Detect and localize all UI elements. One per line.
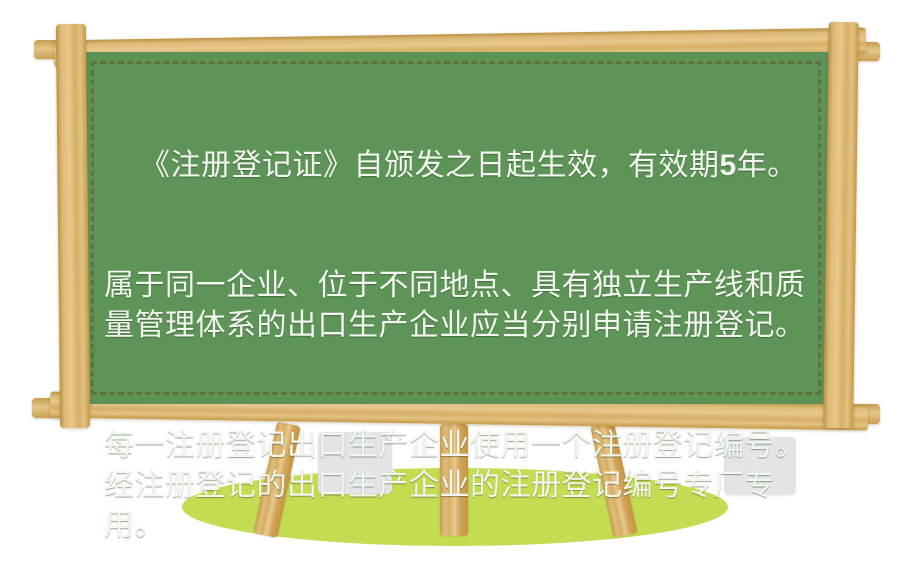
notice-paragraph-1: 《注册登记证》自颁发之日起生效，有效期5年。 <box>104 146 814 186</box>
notice-paragraph-2: 属于同一企业、位于不同地点、具有独立生产线和质量管理体系的出口生产企业应当分别申… <box>104 266 814 346</box>
blackboard-scene: 《注册登记证》自颁发之日起生效，有效期5年。 属于同一企业、位于不同地点、具有独… <box>0 0 912 562</box>
notice-paragraph-1-tail: 年。 <box>737 149 798 182</box>
notice-paragraph-1-lead: 《注册登记证》自颁发之日起生效，有效期 <box>140 149 720 182</box>
chalkboard-text-block: 《注册登记证》自颁发之日起生效，有效期5年。 属于同一企业、位于不同地点、具有独… <box>104 66 814 562</box>
frame-rail-right <box>823 22 859 428</box>
notice-paragraph-3: 每一注册登记出口生产企业使用一个注册登记编号。经注册登记的出口生产企业的注册登记… <box>104 426 814 546</box>
validity-years-value: 5 <box>720 149 737 182</box>
frame-rail-left <box>56 24 90 428</box>
blackboard-frame: 《注册登记证》自颁发之日起生效，有效期5年。 属于同一企业、位于不同地点、具有独… <box>36 16 876 436</box>
chalkboard-surface: 《注册登记证》自颁发之日起生效，有效期5年。 属于同一企业、位于不同地点、具有独… <box>82 52 830 404</box>
